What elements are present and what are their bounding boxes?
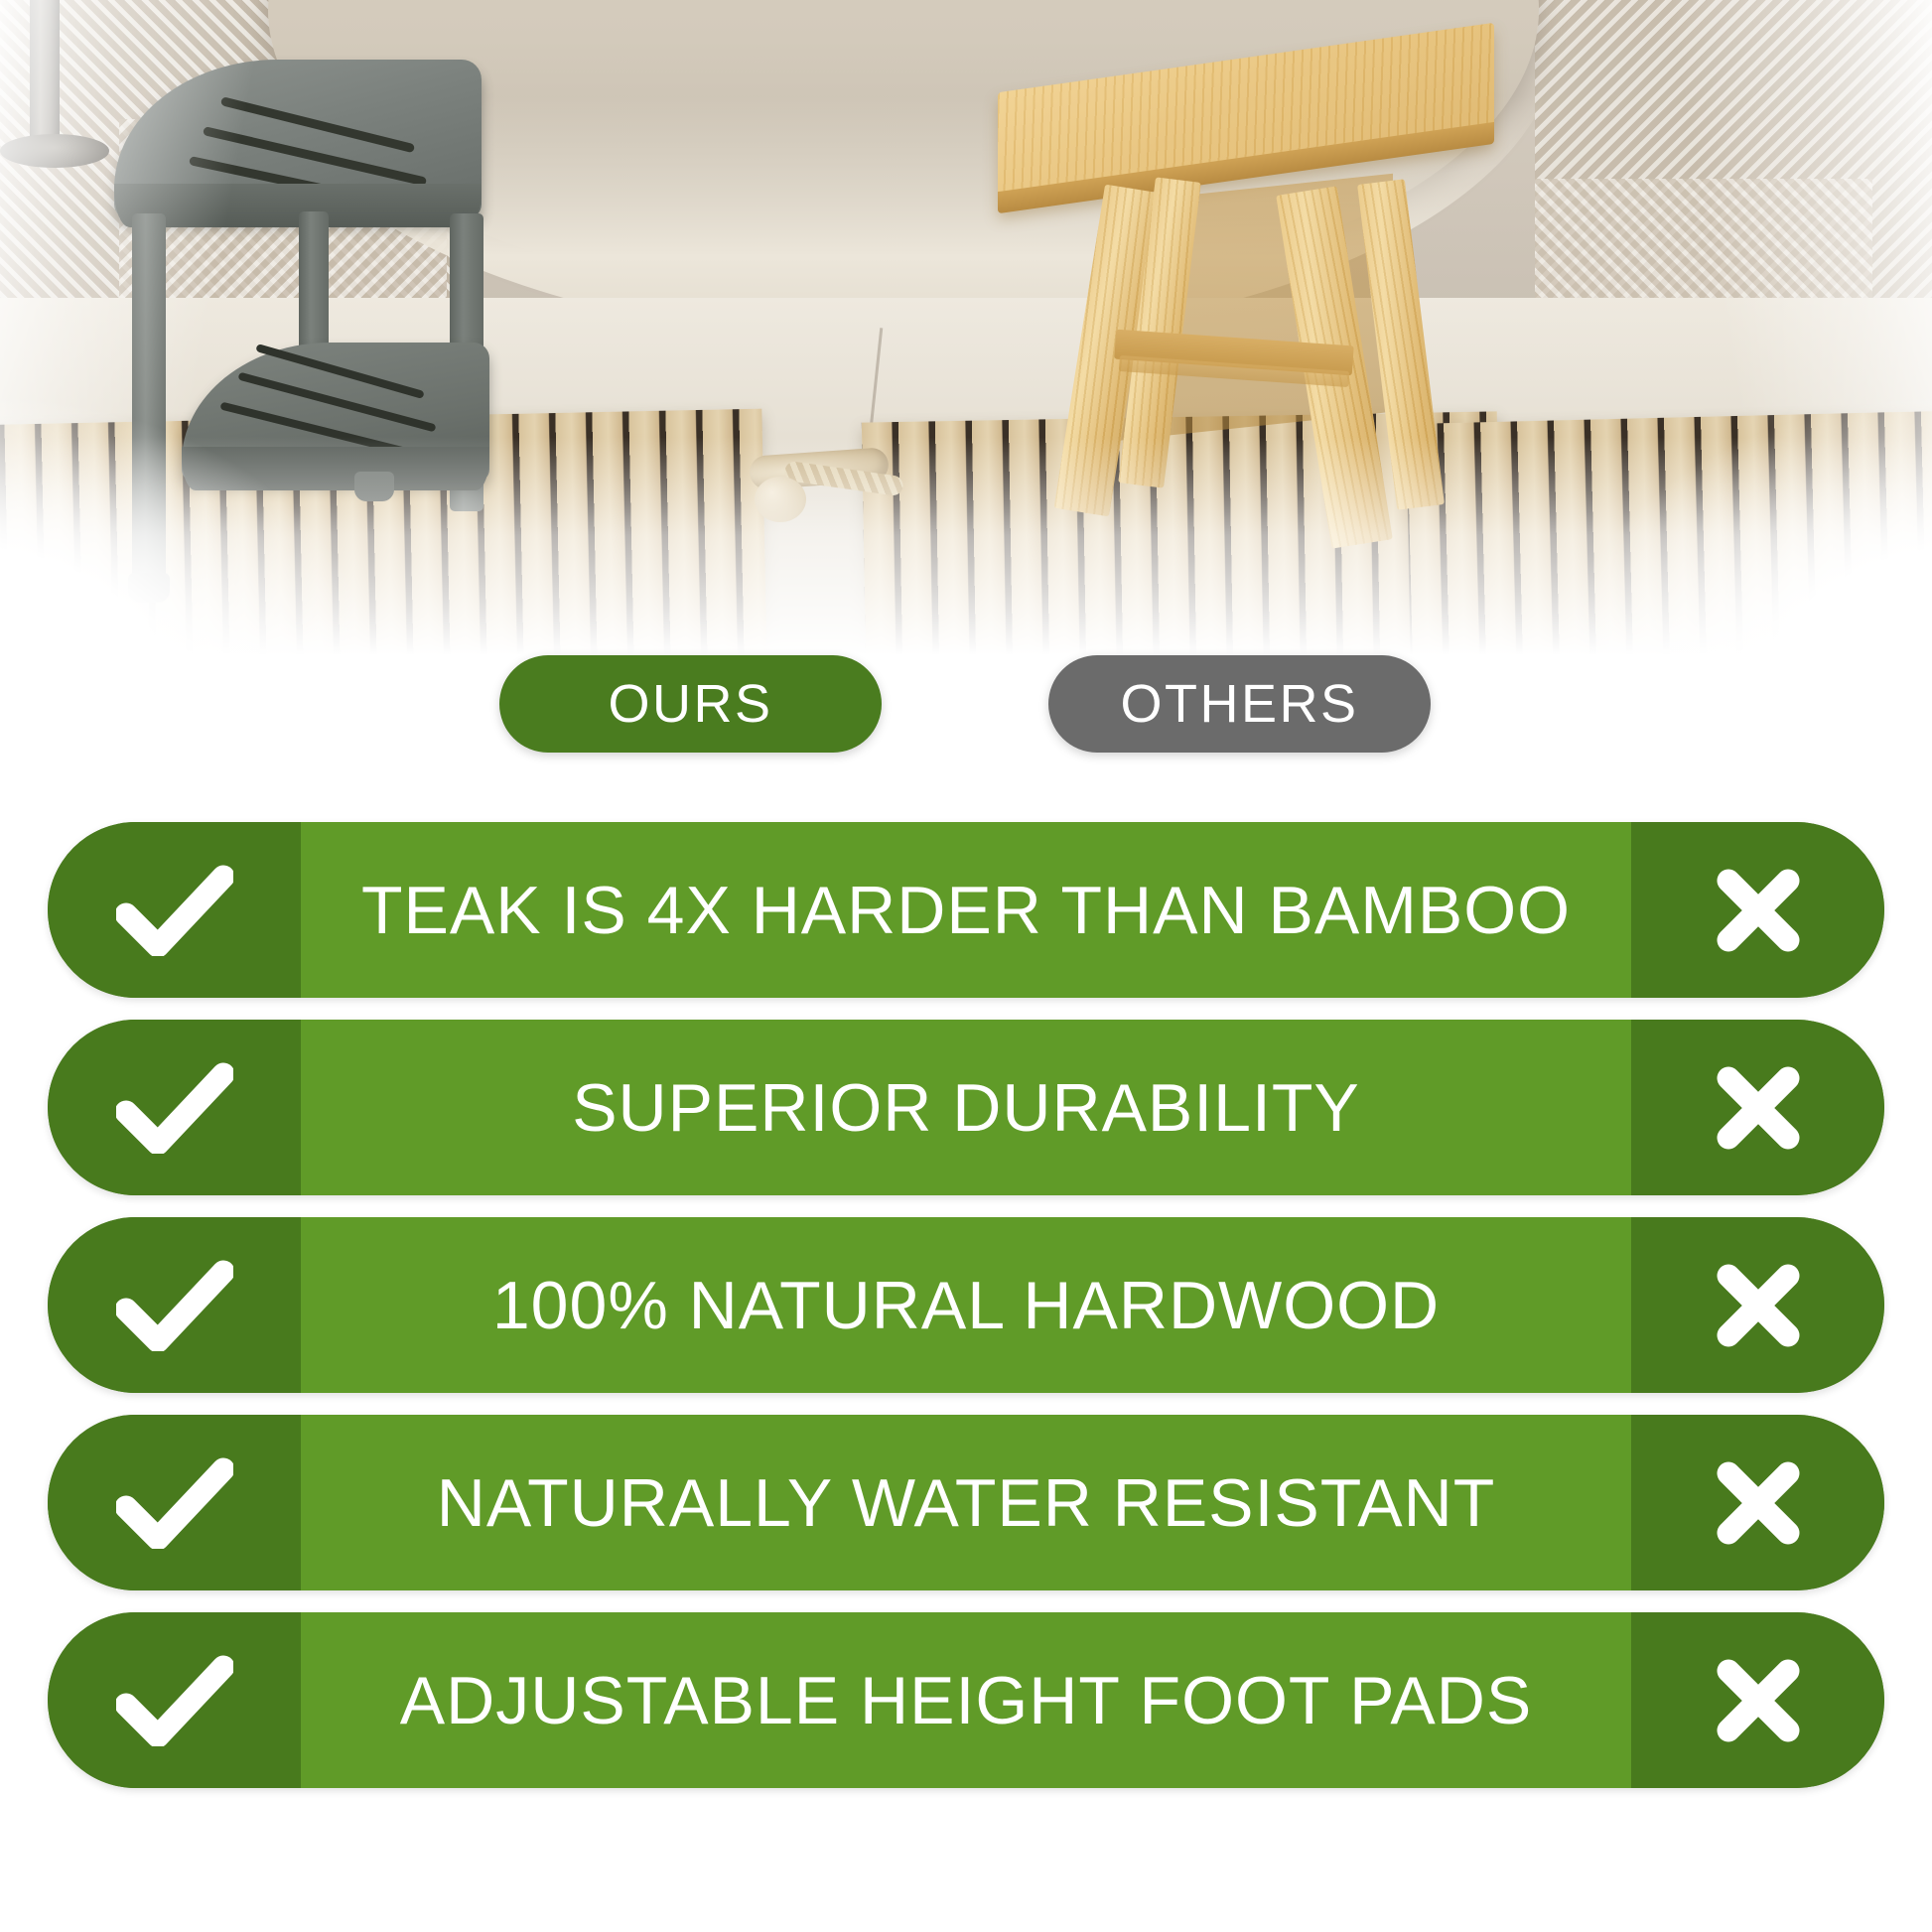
cross-icon xyxy=(1713,1260,1804,1351)
feature-label: 100% NATURAL HARDWOOD xyxy=(492,1267,1440,1344)
feature-label-cell: SUPERIOR DURABILITY xyxy=(301,1020,1631,1195)
pill-ours[interactable]: OURS xyxy=(499,655,882,753)
comparison-row: 100% NATURAL HARDWOOD xyxy=(48,1217,1884,1393)
check-icon xyxy=(116,1457,233,1549)
cross-icon xyxy=(1713,865,1804,956)
others-cell xyxy=(1631,1020,1884,1195)
check-icon xyxy=(116,1260,233,1351)
comparison-row: TEAK IS 4X HARDER THAN BAMBOO xyxy=(48,822,1884,998)
cross-icon xyxy=(1713,1062,1804,1154)
photo-fade-corner-bottom-right xyxy=(1555,397,1932,655)
check-icon xyxy=(116,865,233,956)
feature-label: ADJUSTABLE HEIGHT FOOT PADS xyxy=(400,1662,1532,1739)
comparison-row: SUPERIOR DURABILITY xyxy=(48,1020,1884,1195)
feature-label-cell: 100% NATURAL HARDWOOD xyxy=(301,1217,1631,1393)
comparison-row: NATURALLY WATER RESISTANT xyxy=(48,1415,1884,1590)
cross-icon xyxy=(1713,1457,1804,1549)
pill-others[interactable]: OTHERS xyxy=(1048,655,1431,753)
bathroom-scene xyxy=(0,0,1932,655)
feature-label: TEAK IS 4X HARDER THAN BAMBOO xyxy=(361,872,1571,949)
feature-label: NATURALLY WATER RESISTANT xyxy=(437,1464,1496,1542)
hero-product-comparison-photo: OURS OTHERS xyxy=(0,0,1932,784)
feature-label: SUPERIOR DURABILITY xyxy=(572,1069,1360,1147)
check-icon xyxy=(116,1655,233,1746)
ours-cell xyxy=(48,1217,301,1393)
comparison-pill-row: OURS OTHERS xyxy=(0,655,1932,784)
ours-cell xyxy=(48,1020,301,1195)
others-cell xyxy=(1631,1217,1884,1393)
ours-cell xyxy=(48,822,301,998)
ours-cell xyxy=(48,1612,301,1788)
others-cell xyxy=(1631,822,1884,998)
ours-cell xyxy=(48,1415,301,1590)
feature-label-cell: ADJUSTABLE HEIGHT FOOT PADS xyxy=(301,1612,1631,1788)
cross-icon xyxy=(1713,1655,1804,1746)
feature-label-cell: TEAK IS 4X HARDER THAN BAMBOO xyxy=(301,822,1631,998)
others-cell xyxy=(1631,1415,1884,1590)
comparison-row: ADJUSTABLE HEIGHT FOOT PADS xyxy=(48,1612,1884,1788)
check-icon xyxy=(116,1062,233,1154)
others-cell xyxy=(1631,1612,1884,1788)
comparison-feature-list: TEAK IS 4X HARDER THAN BAMBOO SUPERIOR D… xyxy=(0,822,1932,1788)
photo-fade-corner-bottom-left xyxy=(0,397,377,655)
feature-label-cell: NATURALLY WATER RESISTANT xyxy=(301,1415,1631,1590)
